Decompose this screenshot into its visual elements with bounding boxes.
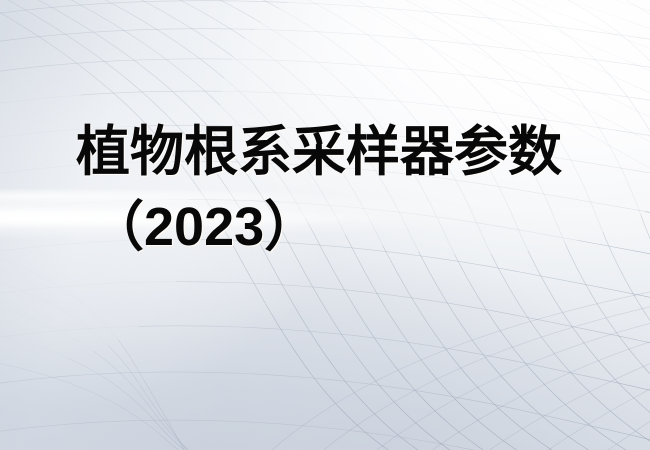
slide-title-line-2: （2023） (90, 198, 318, 256)
slide-title-line-1: 植物根系采样器参数 (76, 123, 562, 181)
title-slide: 植物根系采样器参数 （2023） (0, 0, 650, 450)
